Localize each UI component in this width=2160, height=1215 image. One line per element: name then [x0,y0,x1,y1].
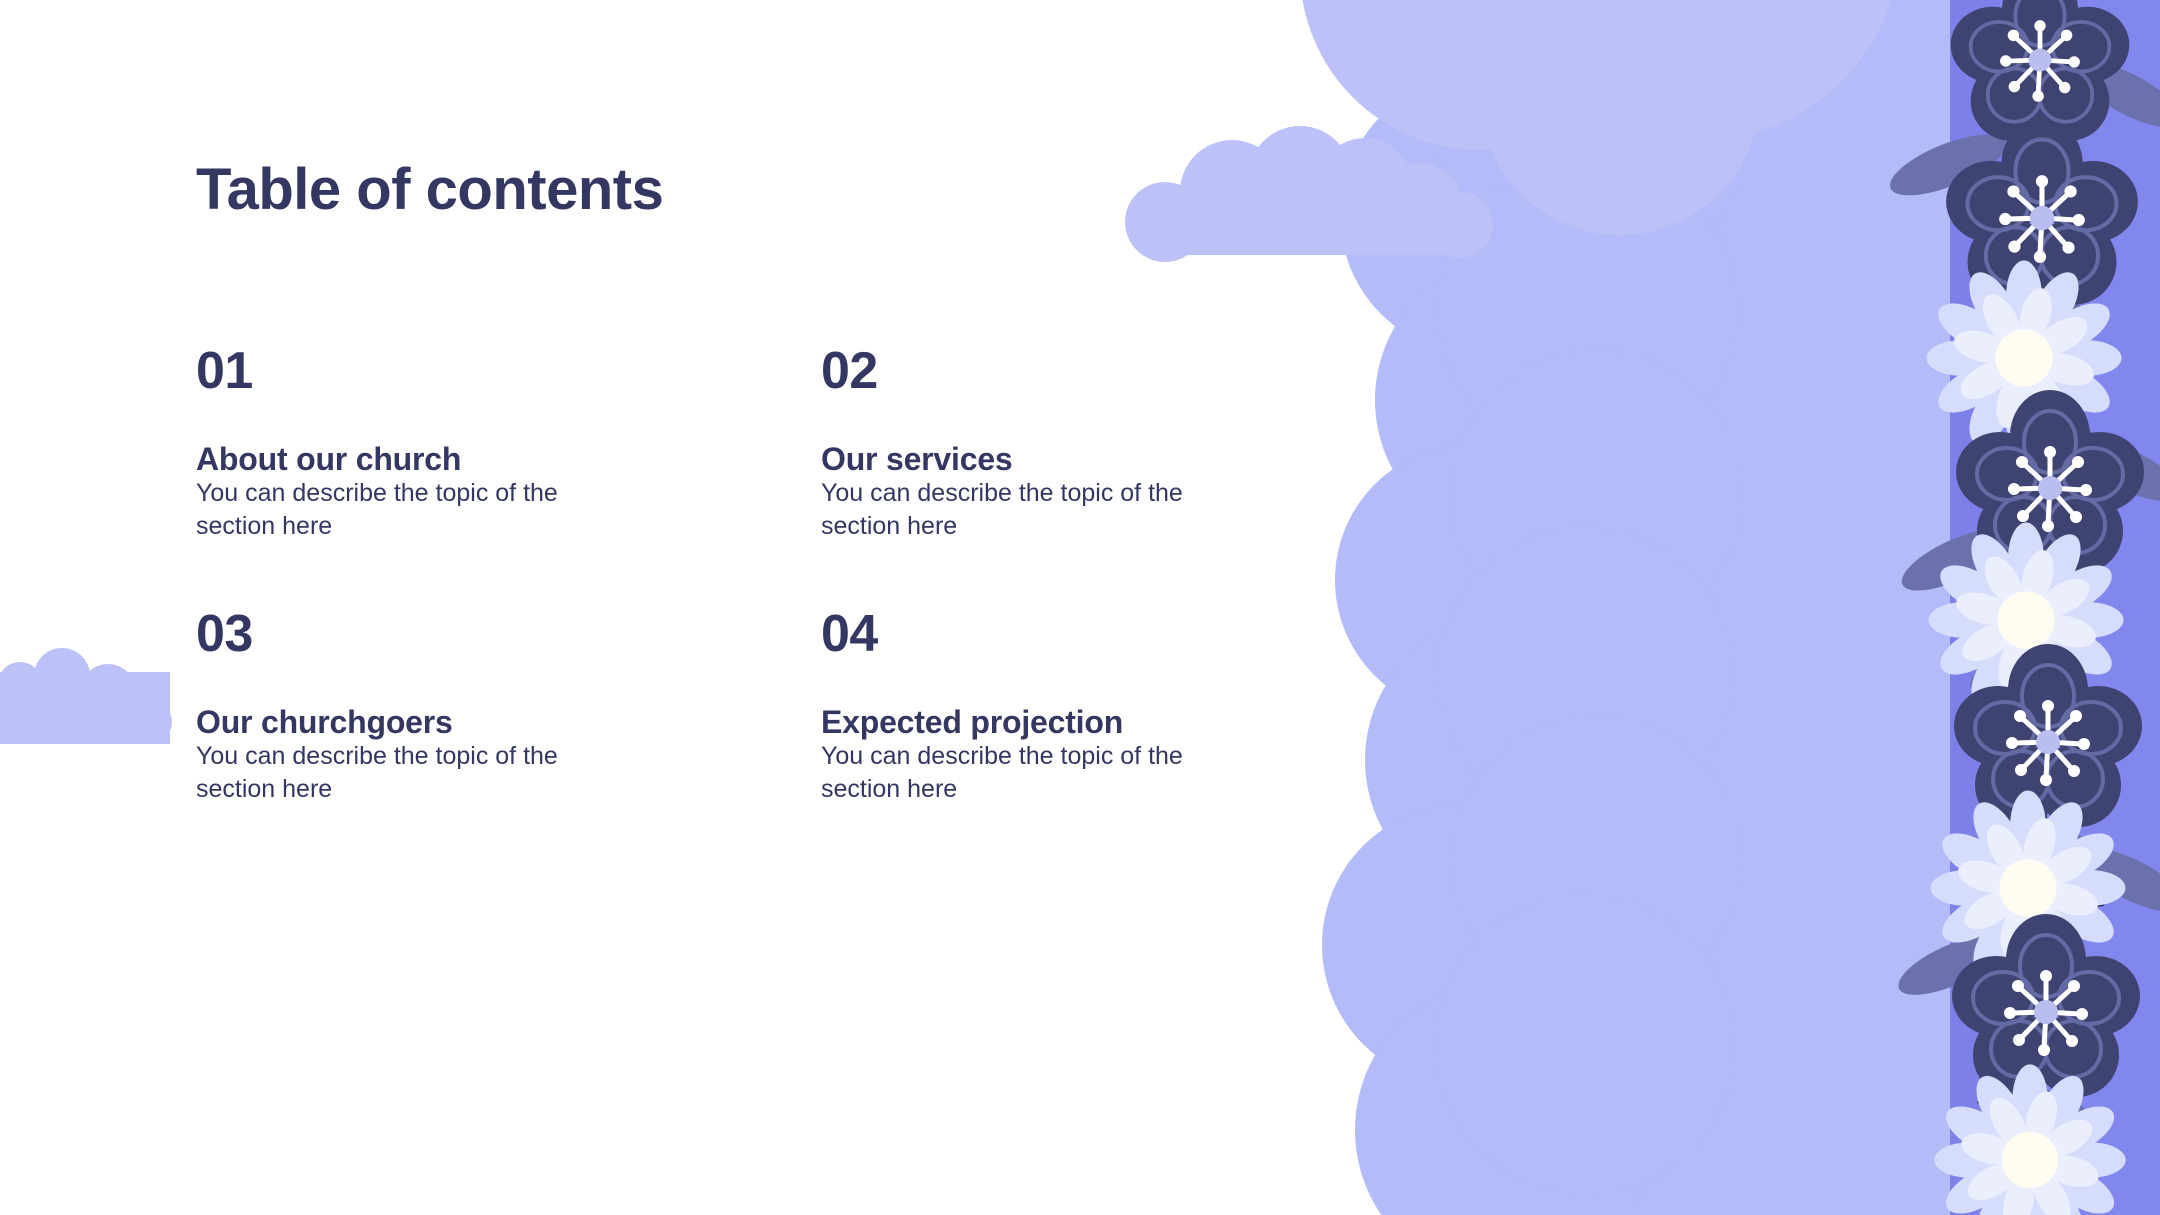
toc-title-03: Our churchgoers [196,704,526,742]
toc-number-03: 03 [196,608,821,660]
contents-row-1: 01 About our church You can describe the… [196,345,1446,479]
leaf-sprig-icon [1953,208,2092,343]
daisy-flower-icon [1934,1064,2125,1215]
toc-number-04: 04 [821,608,1446,660]
five-petal-flower-icon [1951,0,2130,141]
leaf-sprig-icon [1947,597,2090,735]
daisy-flower-icon [1930,790,2125,985]
leaf-sprig-icon [1992,400,2133,537]
floral-band [1883,0,2160,1215]
leaf-sprig-icon [1989,810,2127,944]
toc-item-04[interactable]: 04 Expected projection You can describe … [821,608,1446,742]
toc-title-01: About our church [196,441,526,479]
toc-title-04: Expected projection [821,704,1151,742]
contents-grid: 01 About our church You can describe the… [196,345,1446,742]
toc-body-03: You can describe the topic of the sectio… [196,740,596,807]
right-purple-panel [1700,0,2160,1215]
contents-row-2: 03 Our churchgoers You can describe the … [196,608,1446,742]
toc-number-02: 02 [821,345,1446,397]
slide-content: Table of contents 01 About our church Yo… [0,0,1500,1215]
five-petal-flower-icon [1952,914,2140,1097]
toc-item-02[interactable]: 02 Our services You can describe the top… [821,345,1446,479]
toc-item-03[interactable]: 03 Our churchgoers You can describe the … [196,608,821,742]
five-petal-flower-icon [1946,118,2138,305]
toc-body-04: You can describe the topic of the sectio… [821,740,1221,807]
slide-canvas: Table of contents 01 About our church Yo… [0,0,2160,1215]
toc-item-01[interactable]: 01 About our church You can describe the… [196,345,821,479]
toc-number-01: 01 [196,345,821,397]
page-title: Table of contents [196,160,663,221]
leaf-sprig-icon [1977,0,2127,136]
leaf-sprig-icon [1957,1009,2095,1142]
five-petal-flower-icon [1956,390,2144,573]
daisy-flower-icon [1928,522,2123,717]
toc-body-01: You can describe the topic of the sectio… [196,477,596,544]
scalloped-edge-purple [1505,0,2000,1215]
toc-title-02: Our services [821,441,1151,479]
toc-body-02: You can describe the topic of the sectio… [821,477,1221,544]
five-petal-flower-icon [1954,644,2142,827]
leaf-icon [1883,50,2160,1007]
daisy-flower-icon [1926,260,2121,455]
